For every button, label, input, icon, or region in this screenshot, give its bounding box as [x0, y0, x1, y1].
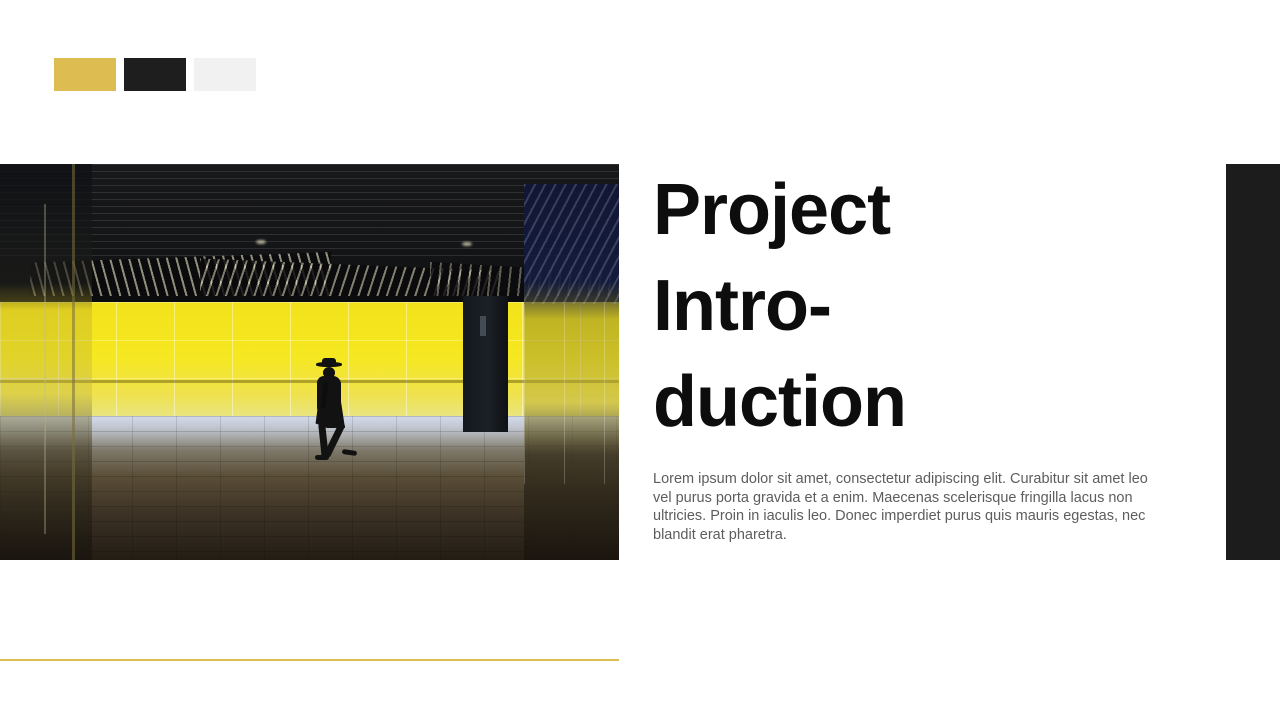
swatch-accent-gold — [54, 58, 116, 91]
photo-right-bay-mullions — [524, 304, 619, 484]
page-title: Project Intro- duction — [653, 162, 1193, 450]
photo-ceiling-light-1 — [256, 240, 266, 244]
hero-photo — [0, 164, 619, 560]
slide-canvas: Project Intro- duction Lorem ipsum dolor… — [0, 0, 1280, 720]
photo-left-glass-rail — [0, 378, 92, 380]
page-title-line-3: duction — [653, 354, 1193, 450]
page-title-line-2: Intro- — [653, 258, 1193, 354]
person-shoe-front — [342, 449, 358, 456]
photo-dark-column — [463, 296, 508, 432]
photo-left-glass-edge — [72, 164, 75, 560]
photo-left-glass-frame — [44, 204, 46, 534]
photo-left-glass-partition — [0, 164, 92, 560]
swatch-paper-gray — [194, 58, 256, 91]
photo-column-plate — [480, 316, 486, 336]
swatch-ink-black — [124, 58, 186, 91]
photo-right-bay-slats — [524, 184, 619, 304]
palette-swatch-row — [54, 58, 256, 91]
right-edge-dark-block — [1226, 164, 1280, 560]
photo-ceiling-light-2 — [462, 242, 472, 246]
person-shoe-back — [315, 455, 329, 460]
body-paragraph: Lorem ipsum dolor sit amet, consectetur … — [653, 470, 1153, 544]
photo-illustration — [0, 164, 619, 560]
bottom-accent-rule — [0, 659, 619, 661]
photo-person-silhouette — [302, 362, 358, 460]
photo-right-glass-bay — [524, 184, 619, 560]
page-title-line-1: Project — [653, 162, 1193, 258]
